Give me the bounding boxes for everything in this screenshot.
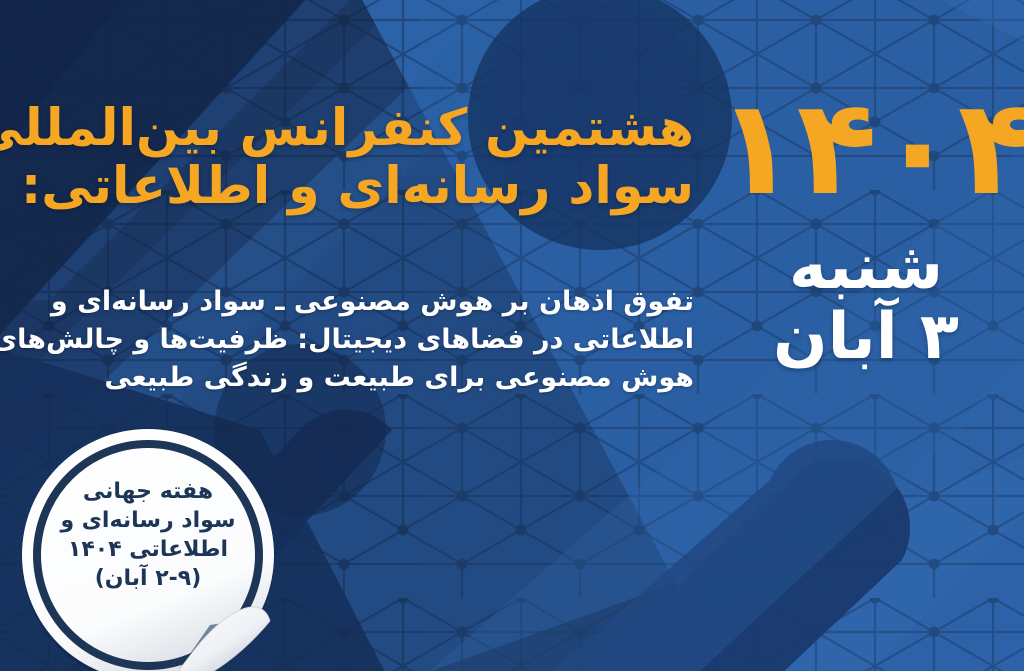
- title-line-2: سواد رسانه‌ای و اطلاعاتی:: [64, 158, 694, 216]
- badge-line-4: (۲-۹ آبان): [14, 564, 282, 593]
- subtitle-line-1: تفوق اذهان بر هوش مصنوعی ـ سواد رسانه‌ای…: [46, 283, 694, 321]
- page-title: هشتمین کنفرانس بین‌المللی سواد رسانه‌ای …: [64, 100, 694, 216]
- subtitle-line-2: اطلاعاتی در فضاهای دیجیتال: ظرفیت‌ها و چ…: [46, 321, 694, 359]
- poster-content: هشتمین کنفرانس بین‌المللی سواد رسانه‌ای …: [0, 0, 1024, 671]
- badge-line-2: سواد رسانه‌ای و: [14, 506, 282, 535]
- subtitle: تفوق اذهان بر هوش مصنوعی ـ سواد رسانه‌ای…: [46, 283, 694, 396]
- status-badge: هفته جهانی سواد رسانه‌ای و اطلاعاتی ۱۴۰۴…: [14, 425, 282, 671]
- badge-text: هفته جهانی سواد رسانه‌ای و اطلاعاتی ۱۴۰۴…: [14, 477, 282, 593]
- event-year: ۱۴۰۴: [716, 86, 1006, 211]
- title-line-1: هشتمین کنفرانس بین‌المللی: [64, 100, 694, 158]
- badge-line-3: اطلاعاتی ۱۴۰۴: [14, 535, 282, 564]
- event-date-block: ۱۴۰۴ شنبه ۳ آبان: [716, 86, 1016, 369]
- subtitle-line-3: هوش مصنوعی برای طبیعت و زندگی طبیعی: [46, 359, 694, 397]
- conference-poster: هشتمین کنفرانس بین‌المللی سواد رسانه‌ای …: [0, 0, 1024, 671]
- event-day-month: ۳ آبان: [716, 305, 1016, 369]
- badge-line-1: هفته جهانی: [14, 477, 282, 506]
- event-weekday: شنبه: [716, 235, 1016, 299]
